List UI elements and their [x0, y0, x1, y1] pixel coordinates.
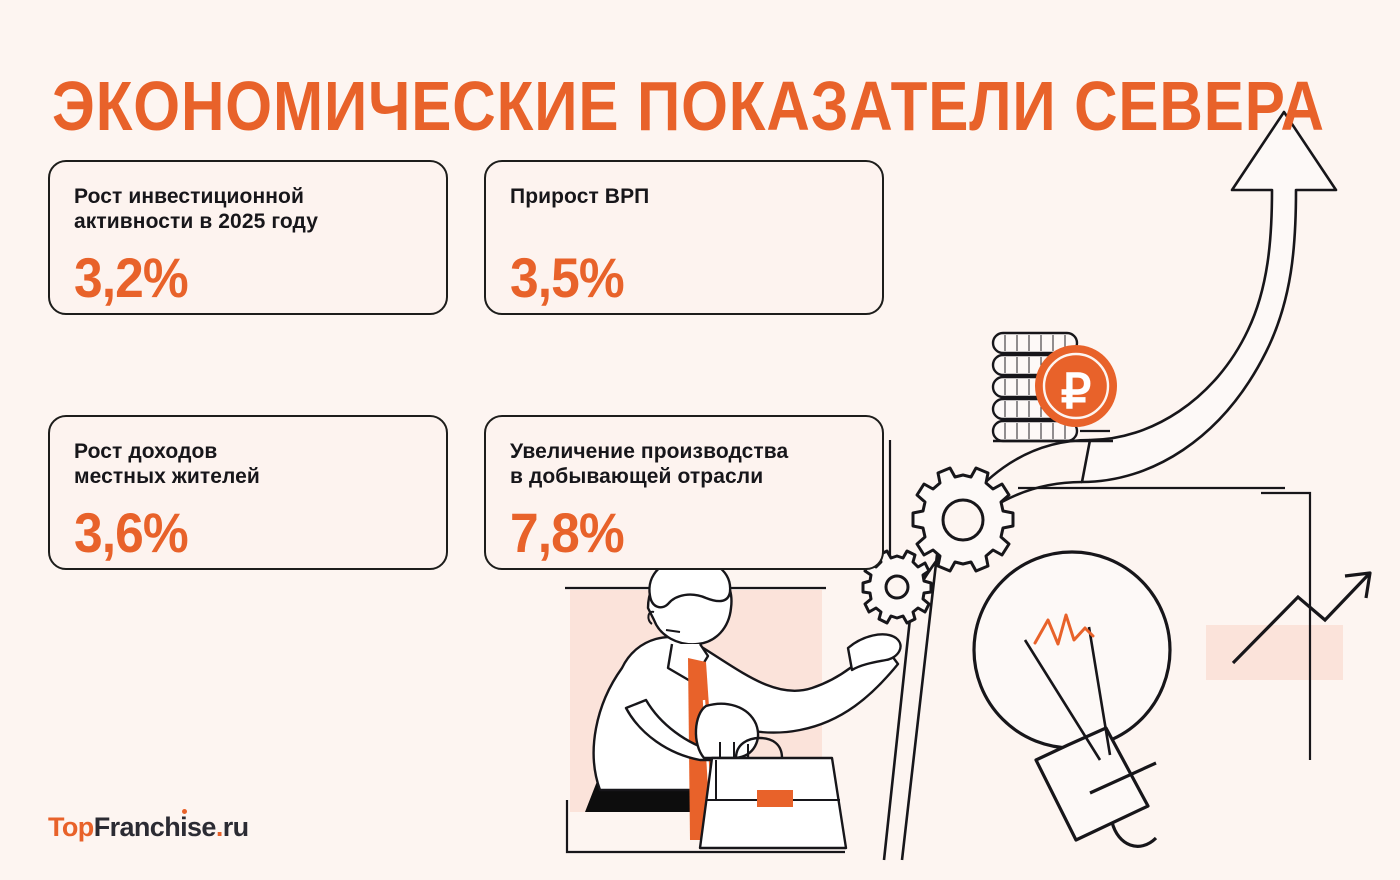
- peach-panel-trend: [1206, 625, 1343, 680]
- ruble-coin-inner-ring: [1044, 354, 1108, 418]
- page-title: ЭКОНОМИЧЕСКИЕ ПОКАЗАТЕЛИ СЕВЕРА: [52, 69, 1084, 143]
- logo-dot: .: [216, 812, 223, 842]
- stat-card-value: 3,6%: [74, 504, 188, 562]
- arm-front: [626, 700, 748, 760]
- head: [648, 563, 731, 644]
- stat-card-mining-output[interactable]: Увеличение производства в добывающей отр…: [484, 415, 884, 570]
- stat-card-value: 7,8%: [510, 504, 624, 562]
- logo-part-ru: ru: [223, 812, 249, 842]
- coin-stack-ridges: [1005, 335, 1065, 439]
- tie: [688, 658, 718, 840]
- open-hand: [848, 634, 901, 670]
- infographic-canvas: ₽: [0, 0, 1400, 880]
- topfranchise-logo[interactable]: TopFranchise.ru: [48, 812, 249, 843]
- curved-arrow-shaft: [884, 440, 1090, 860]
- gear-large-icon: [913, 468, 1013, 571]
- logo-part-top: Top: [48, 812, 94, 842]
- stat-card-label: Увеличение производства в добывающей отр…: [510, 439, 858, 489]
- stat-card-grp-growth[interactable]: Прирост ВРП 3,5%: [484, 160, 884, 315]
- briefcase: [700, 758, 846, 848]
- face-detail: [648, 612, 680, 632]
- businessman-illustration: [585, 558, 901, 848]
- trousers: [585, 766, 718, 812]
- logo-part-se: se: [187, 812, 216, 842]
- coin-stack: [993, 333, 1077, 441]
- fingers: [720, 742, 748, 758]
- curved-up-arrow: [1082, 112, 1336, 482]
- briefcase-handle: [736, 738, 782, 758]
- shirt: [594, 637, 898, 790]
- tie-highlight: [704, 700, 712, 836]
- lightbulb-icon: [974, 552, 1170, 846]
- trend-arrow-icon: [1233, 573, 1370, 663]
- peach-panel-person: [570, 590, 822, 812]
- ruble-symbol: ₽: [1061, 366, 1092, 419]
- stat-card-label: Рост доходов местных жителей: [74, 439, 422, 489]
- logo-part-i: i: [180, 812, 187, 843]
- briefcase-clasp: [757, 790, 793, 807]
- curved-arrow-tail: [896, 440, 1090, 560]
- stat-card-investment-activity[interactable]: Рост инвестиционной активности в 2025 го…: [48, 160, 448, 315]
- bulb-filament: [1035, 615, 1093, 644]
- collar: [668, 644, 708, 682]
- stat-card-label: Прирост ВРП: [510, 184, 858, 209]
- hand-grip: [696, 704, 758, 758]
- stat-card-local-income[interactable]: Рост доходов местных жителей 3,6%: [48, 415, 448, 570]
- stat-card-label: Рост инвестиционной активности в 2025 го…: [74, 184, 422, 234]
- stat-card-value: 3,2%: [74, 249, 188, 307]
- briefcase-lid: [706, 760, 840, 800]
- stat-card-value: 3,5%: [510, 249, 624, 307]
- logo-part-franch: Franch: [94, 812, 180, 842]
- ruble-coin: [1035, 345, 1117, 427]
